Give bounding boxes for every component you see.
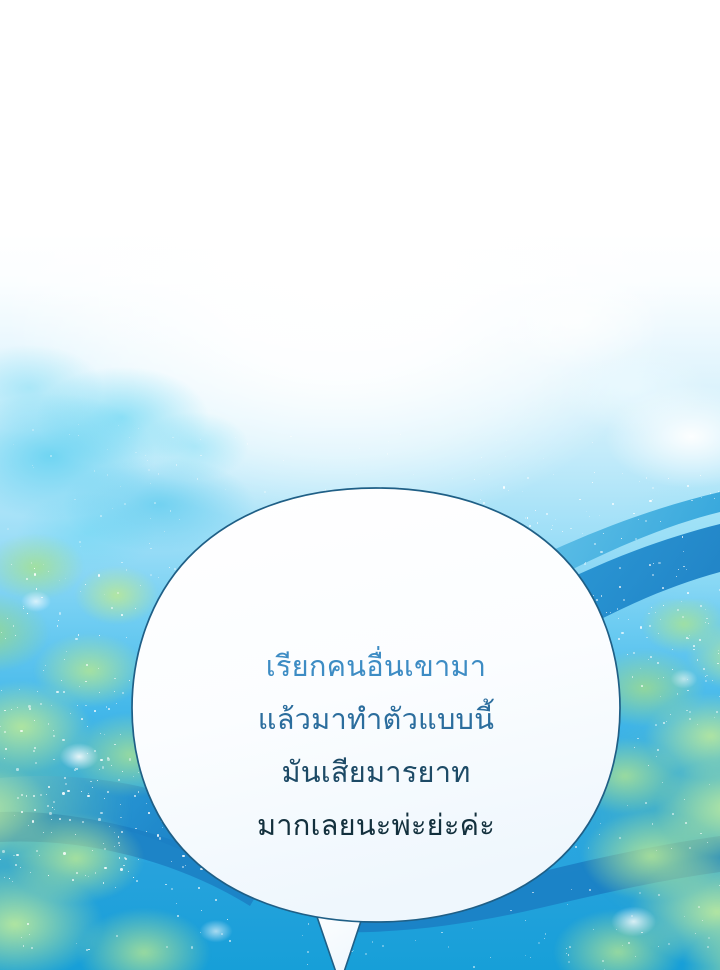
comic-panel: เรียกคนอื่นเขามา แล้วมาทำตัวแบบนี้ มันเส… — [0, 0, 720, 970]
bubble-line-3: มันเสียมารยาท — [281, 747, 470, 800]
bubble-line-2: แล้วมาทำตัวแบบนี้ — [258, 694, 494, 747]
bubble-line-1: เรียกคนอื่นเขามา — [266, 641, 487, 694]
bubble-line-4: มากเลยนะพ่ะย่ะค่ะ — [257, 800, 495, 853]
speech-bubble: เรียกคนอื่นเขามา แล้วมาทำตัวแบบนี้ มันเส… — [142, 486, 610, 896]
speech-bubble-text-block: เรียกคนอื่นเขามา แล้วมาทำตัวแบบนี้ มันเส… — [142, 486, 610, 896]
